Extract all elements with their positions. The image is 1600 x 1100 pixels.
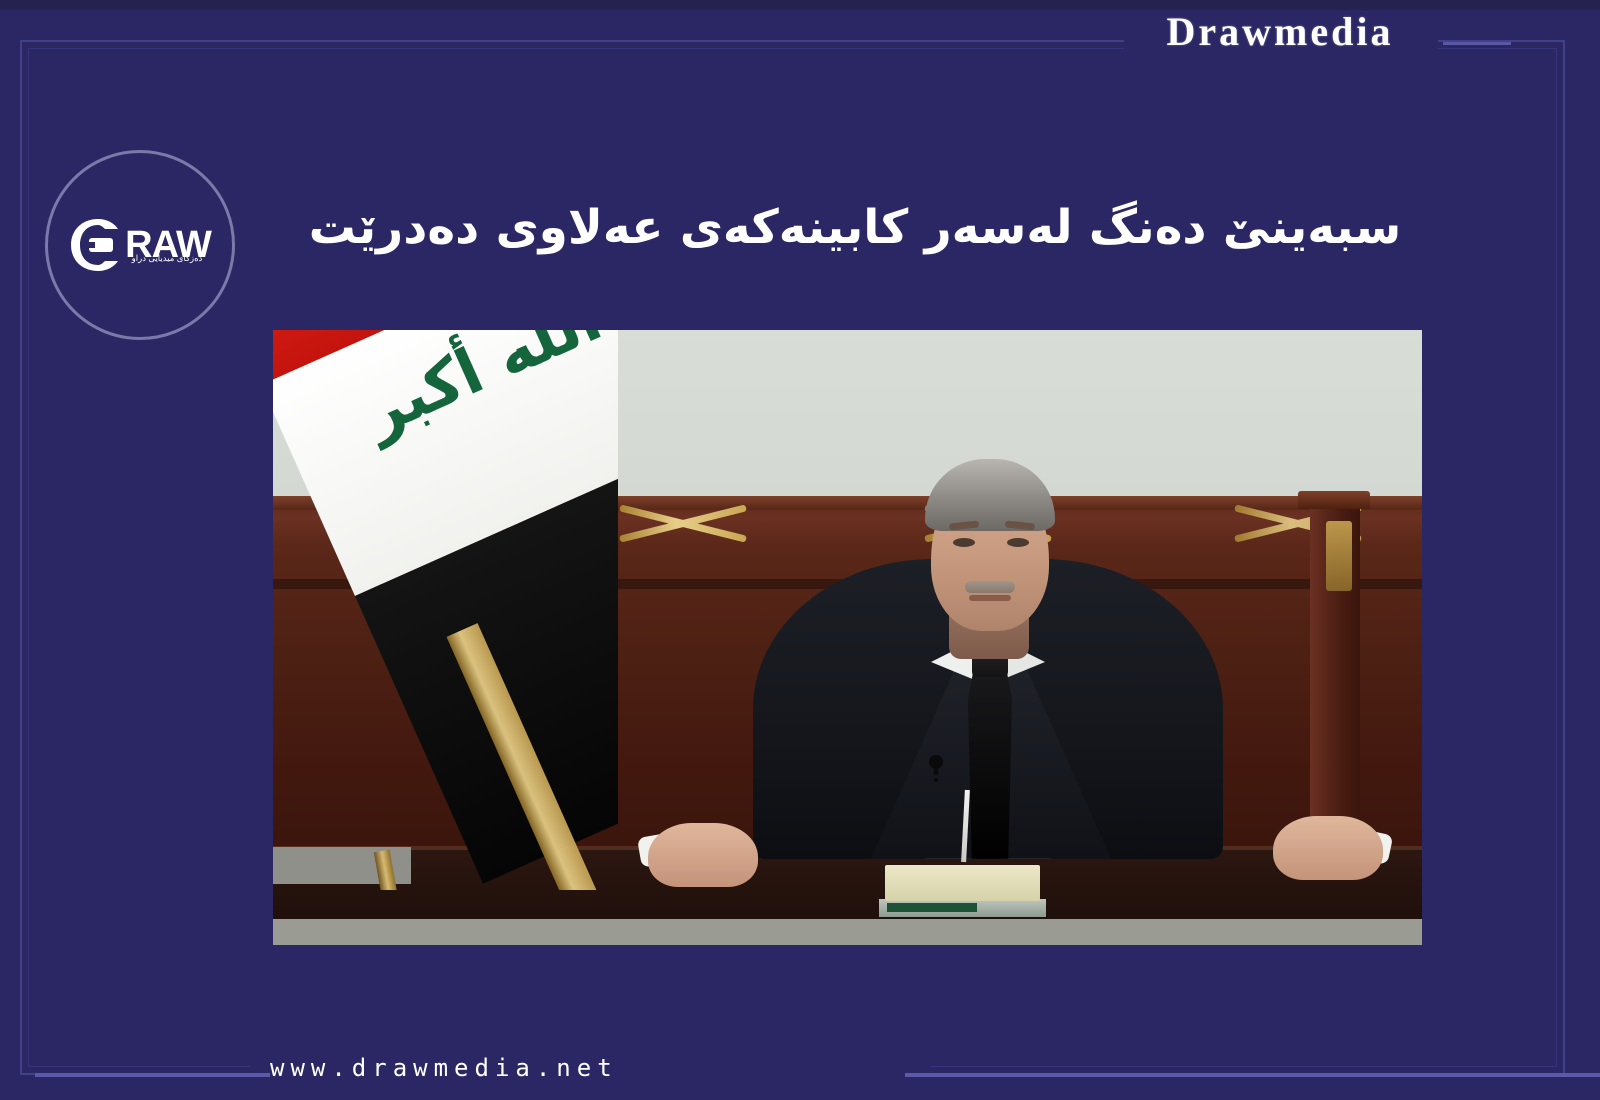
person-hair (925, 459, 1055, 531)
brand-wordmark: Drawmedia (1130, 12, 1430, 52)
person-hand-right (1273, 816, 1383, 880)
gold-x-ornament-icon (618, 503, 748, 537)
desk-papers (885, 865, 1040, 901)
person-tie (966, 654, 1014, 859)
footer-rule-right (905, 1073, 1600, 1077)
draw-logo-badge: RAW دەزگای میدیایی دراو (45, 150, 235, 340)
person-hand-left (648, 823, 758, 887)
footer-website-url: www.drawmedia.net (270, 1056, 890, 1080)
desk-nameplate-band (887, 903, 977, 912)
photo-column-cap (1298, 491, 1370, 509)
footer-rule-left (35, 1073, 270, 1077)
person-moustache (965, 581, 1015, 593)
header-rule-right (1443, 42, 1511, 45)
poster-canvas: Drawmedia RAW دەزگای میدیایی دراو سبەینێ… (0, 0, 1600, 1100)
person-mouth (969, 595, 1011, 601)
flag-pole (374, 850, 412, 890)
photo-floor-strip (273, 919, 1422, 945)
photo-column-gold-accent (1326, 521, 1352, 591)
draw-d-monogram-icon (69, 217, 127, 273)
lapel-microphone-icon (929, 755, 943, 769)
logo-subtitle: دەزگای میدیایی دراو (112, 254, 222, 263)
headline-text: سبەینێ دەنگ لەسەر کابینەکەی عەلاوی دەدرێ… (270, 196, 1440, 259)
news-photo: الله أكبر (273, 330, 1422, 945)
photo-person (753, 389, 1223, 859)
person-eye-right (1007, 538, 1029, 547)
iraqi-flag: الله أكبر (273, 330, 618, 890)
person-eye-left (953, 538, 975, 547)
